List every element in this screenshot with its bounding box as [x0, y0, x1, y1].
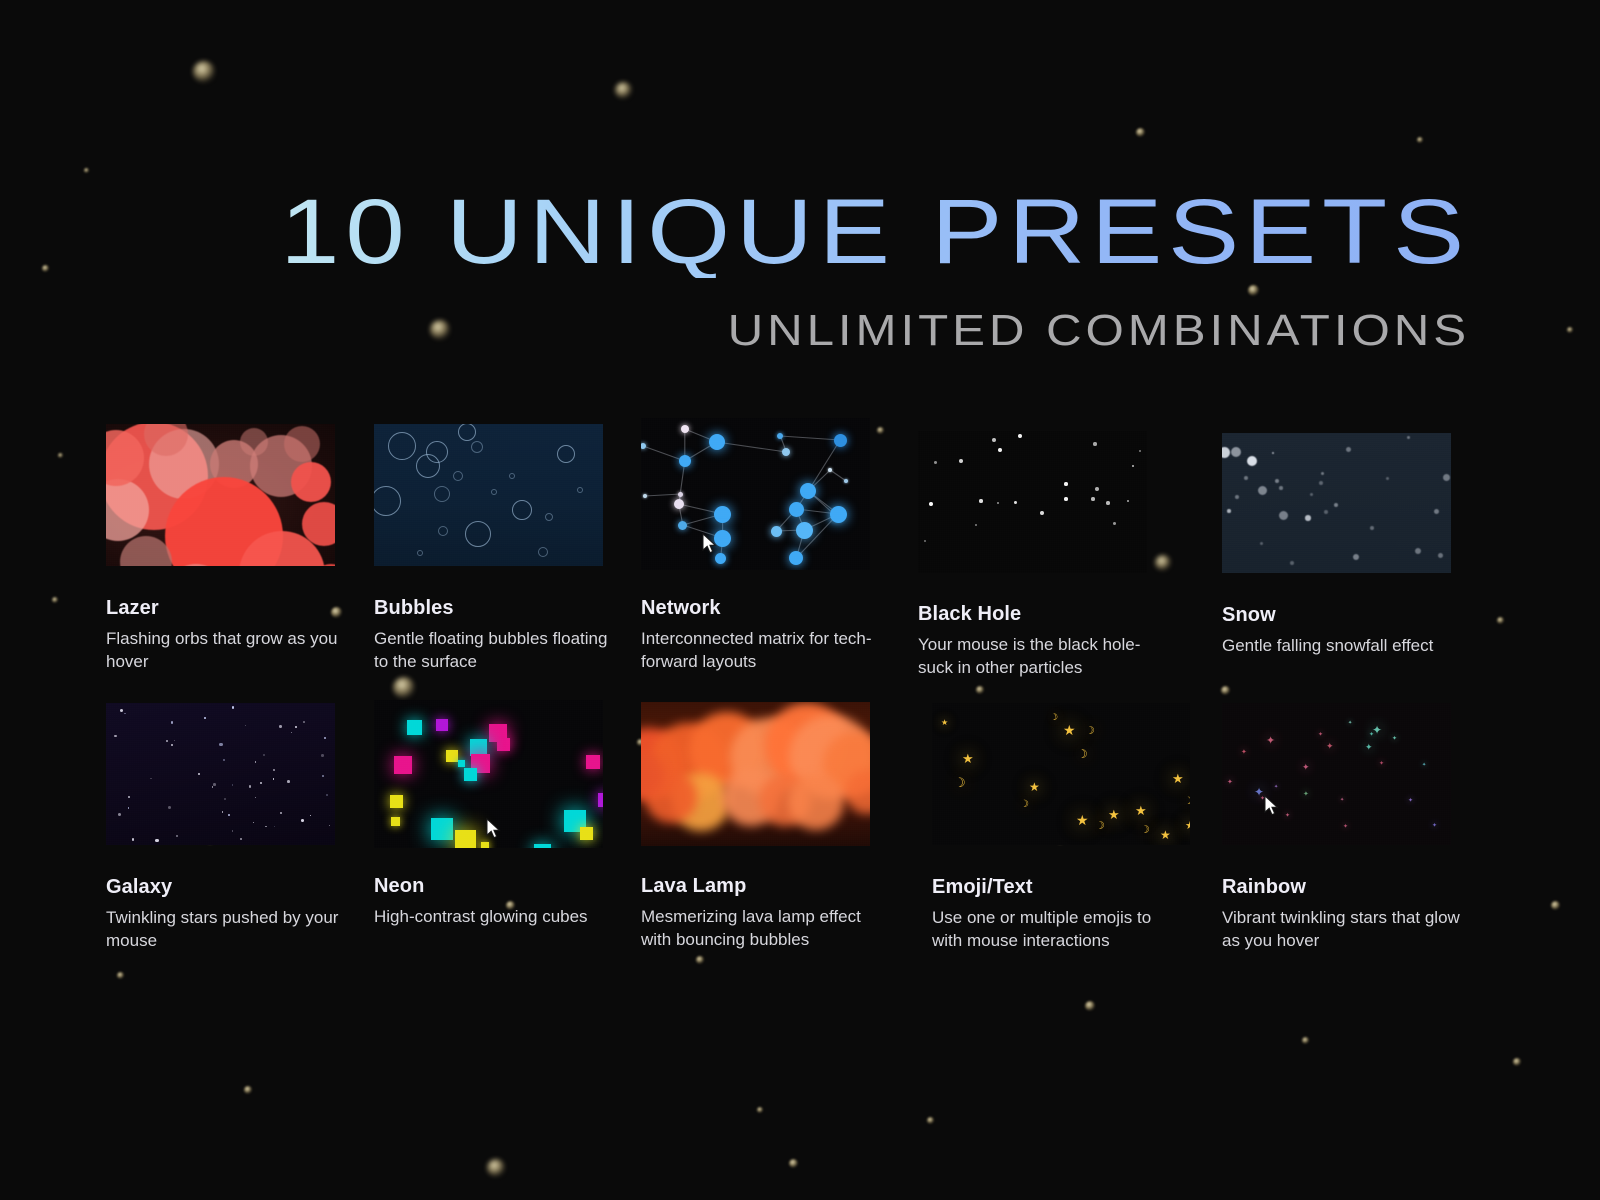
snow-flake [1222, 447, 1230, 458]
snow-flake [1244, 476, 1248, 480]
galaxy-star [329, 825, 330, 826]
snow-flake [1386, 477, 1389, 480]
galaxy-star [310, 815, 311, 816]
emoji-moon-glyph: ☽ [1020, 800, 1029, 810]
snow-flake [1235, 495, 1239, 499]
rainbow-star: ✦ [1266, 736, 1275, 747]
emoji-star-glyph: ★ [962, 752, 974, 765]
preset-description-bubbles: Gentle floating bubbles floating to the … [374, 628, 622, 673]
blackhole-particle [1095, 487, 1099, 491]
galaxy-star [301, 819, 304, 822]
network-node [830, 506, 847, 523]
rainbow-star: ✦ [1303, 791, 1309, 798]
galaxy-star [322, 775, 324, 777]
emoji-star-glyph: ★ [1185, 821, 1190, 832]
neon-cube [598, 793, 603, 807]
galaxy-star [128, 796, 130, 798]
bubble-ring [557, 445, 575, 463]
galaxy-star [198, 773, 200, 775]
galaxy-star [168, 806, 171, 809]
preset-thumbnail-bubbles[interactable] [374, 424, 603, 566]
rainbow-star: ✦ [1274, 785, 1278, 790]
preset-card-emoji-text[interactable]: ★☽★☽☽★☽★★☽★★★☽☽★★☽ Emoji/Text Use one or… [932, 703, 1172, 952]
galaxy-star [228, 814, 230, 816]
preset-description-rainbow: Vibrant twinkling stars that glow as you… [1222, 907, 1468, 952]
network-node [674, 499, 684, 509]
emoji-moon-glyph: ☽ [954, 776, 966, 789]
blackhole-particle [1064, 497, 1068, 501]
neon-cube [407, 720, 422, 735]
neon-cube [391, 817, 400, 826]
snow-flake [1231, 447, 1241, 457]
rainbow-star: ✦ [1422, 763, 1426, 768]
snow-flake [1415, 548, 1421, 554]
blackhole-particle [1139, 450, 1142, 453]
galaxy-star [166, 740, 168, 742]
preset-title-snow: Snow [1222, 604, 1462, 626]
galaxy-star [204, 717, 206, 719]
network-node [796, 522, 813, 539]
preset-description-network: Interconnected matrix for tech-forward l… [641, 628, 877, 673]
snow-flake [1353, 554, 1359, 560]
preset-description-galaxy: Twinkling stars pushed by your mouse [106, 907, 340, 952]
galaxy-star [222, 811, 223, 812]
galaxy-star [287, 780, 290, 783]
network-node [777, 433, 783, 439]
network-node [800, 483, 816, 499]
network-node [828, 468, 832, 472]
preset-description-snow: Gentle falling snowfall effect [1222, 635, 1472, 658]
emoji-moon-glyph: ☽ [1050, 713, 1058, 722]
bubble-ring [509, 473, 515, 479]
rainbow-star: ✦ [1432, 823, 1437, 829]
galaxy-star [295, 726, 297, 728]
lazer-orb [240, 428, 268, 456]
preset-title-network: Network [641, 597, 881, 619]
emoji-star-glyph: ★ [1076, 813, 1089, 827]
preset-title-lazer: Lazer [106, 597, 346, 619]
emoji-moon-glyph: ☽ [1077, 748, 1088, 760]
preset-card-lava-lamp[interactable]: Lava Lamp Mesmerizing lava lamp effect w… [641, 702, 881, 951]
neon-cube [534, 844, 551, 848]
rainbow-star: ✦ [1369, 732, 1374, 738]
preset-description-lazer: Flashing orbs that grow as you hover [106, 628, 338, 673]
blackhole-particle [992, 438, 996, 442]
blackhole-particle [1091, 497, 1095, 501]
rainbow-star: ✦ [1326, 742, 1334, 751]
galaxy-star [124, 713, 126, 715]
bubble-ring [453, 471, 463, 481]
preset-thumbnail-neon[interactable] [374, 700, 603, 848]
network-node [678, 492, 683, 497]
emoji-star-glyph: ★ [941, 719, 948, 727]
snow-flake [1279, 486, 1283, 490]
network-node [678, 521, 687, 530]
bubble-ring [417, 550, 423, 556]
rainbow-star: ✦ [1392, 736, 1397, 742]
preset-title-black-hole: Black Hole [918, 603, 1158, 625]
blackhole-particle [959, 459, 964, 464]
blackhole-particle [934, 461, 937, 464]
preset-grid: Lazer Flashing orbs that grow as you hov… [0, 0, 1600, 1200]
lazer-orb [284, 426, 320, 462]
snow-flake [1370, 526, 1374, 530]
neon-cube [431, 818, 453, 840]
galaxy-star [274, 826, 275, 827]
blackhole-particle [1113, 522, 1116, 525]
galaxy-star [219, 743, 222, 746]
galaxy-star [240, 838, 242, 840]
galaxy-star [280, 812, 282, 814]
galaxy-star [224, 798, 226, 800]
network-node [679, 455, 691, 467]
galaxy-star [303, 721, 305, 723]
galaxy-star [213, 783, 216, 786]
preset-title-bubbles: Bubbles [374, 597, 614, 619]
snow-flake [1407, 436, 1410, 439]
galaxy-star [212, 786, 213, 787]
galaxy-star [232, 784, 233, 785]
neon-cube [446, 750, 458, 762]
bubble-ring [465, 521, 491, 547]
blackhole-particle [924, 540, 926, 542]
emoji-moon-glyph: ☽ [1095, 821, 1105, 832]
neon-cube [436, 719, 448, 731]
blackhole-particle [1132, 465, 1135, 468]
snow-flake [1324, 510, 1328, 514]
snow-flake [1434, 509, 1439, 514]
snow-flake [1279, 511, 1288, 520]
preset-card-black-hole[interactable]: Black Hole Your mouse is the black hole-… [918, 431, 1158, 679]
rainbow-star: ✦ [1408, 798, 1413, 804]
neon-cube [455, 830, 476, 848]
rainbow-star: ✦ [1340, 798, 1344, 803]
blackhole-particle [1018, 434, 1023, 439]
galaxy-star [273, 778, 275, 780]
galaxy-star [249, 785, 251, 787]
bubble-ring [438, 526, 448, 536]
neon-cube [481, 842, 489, 848]
network-node [709, 434, 725, 450]
preset-description-neon: High-contrast glowing cubes [374, 906, 610, 929]
blackhole-particle [979, 499, 983, 503]
preset-thumbnail-rainbow[interactable]: ✦✦✦✦✦✦✦✦✦✦✦✦✦✦✦✦✦✦✦✦✦✦ [1222, 703, 1451, 845]
galaxy-star [260, 782, 262, 784]
lava-blob [788, 774, 844, 830]
bubble-ring [458, 424, 476, 441]
galaxy-star [232, 706, 234, 708]
rainbow-star: ✦ [1241, 749, 1247, 756]
network-node [789, 502, 804, 517]
galaxy-star [253, 822, 254, 823]
preset-card-galaxy[interactable]: Galaxy Twinkling stars pushed by your mo… [106, 703, 346, 952]
emoji-moon-glyph: ☽ [1085, 726, 1095, 737]
rainbow-star: ✦ [1285, 813, 1290, 819]
rainbow-star: ✦ [1379, 761, 1384, 767]
rainbow-star: ✦ [1318, 732, 1323, 738]
network-node [641, 443, 646, 449]
emoji-star-glyph: ★ [1108, 808, 1120, 821]
galaxy-star [132, 838, 135, 841]
preset-thumbnail-lazer[interactable] [106, 424, 335, 566]
bubble-ring [491, 489, 497, 495]
galaxy-star [171, 721, 173, 723]
snow-flake [1443, 474, 1450, 481]
galaxy-star [155, 839, 158, 842]
neon-cube [586, 755, 600, 769]
blackhole-particle [998, 448, 1002, 452]
blackhole-particle [975, 524, 977, 526]
network-node [782, 448, 790, 456]
galaxy-star [176, 835, 177, 836]
emoji-moon-glyph: ☽ [1184, 797, 1190, 807]
snow-flake [1346, 447, 1351, 452]
snow-flake [1258, 486, 1267, 495]
network-node [714, 506, 731, 523]
emoji-moon-glyph: ☽ [1140, 825, 1150, 836]
blackhole-particle [1014, 501, 1017, 504]
preset-card-snow[interactable]: Snow Gentle falling snowfall effect [1222, 433, 1462, 658]
emoji-star-glyph: ★ [1135, 804, 1147, 817]
snow-flake [1305, 515, 1311, 521]
bubble-ring [374, 486, 401, 516]
galaxy-star [279, 725, 282, 728]
preset-title-lava-lamp: Lava Lamp [641, 875, 881, 897]
snow-flake [1247, 456, 1257, 466]
galaxy-star [265, 826, 267, 828]
preset-thumbnail-black-hole[interactable] [918, 431, 1147, 573]
preset-description-lava-lamp: Mesmerizing lava lamp effect with bounci… [641, 906, 895, 951]
snow-flake [1275, 479, 1280, 484]
preset-title-neon: Neon [374, 875, 614, 897]
snow-flake [1319, 481, 1323, 485]
galaxy-star [150, 778, 151, 779]
galaxy-star [118, 813, 121, 816]
neon-cube [394, 756, 412, 774]
preset-card-neon[interactable]: Neon High-contrast glowing cubes [374, 700, 614, 929]
snow-flake [1334, 503, 1338, 507]
galaxy-star [255, 761, 257, 763]
network-node [771, 526, 782, 537]
emoji-star-glyph: ★ [1063, 723, 1076, 737]
lazer-orb [291, 462, 331, 502]
snow-flake [1310, 493, 1313, 496]
bubble-ring [545, 513, 553, 521]
network-node [681, 425, 689, 433]
snow-flake [1227, 509, 1231, 513]
bubble-ring [388, 432, 416, 460]
preset-description-black-hole: Your mouse is the black hole-suck in oth… [918, 634, 1172, 679]
preset-card-lazer[interactable]: Lazer Flashing orbs that grow as you hov… [106, 424, 346, 673]
preset-thumbnail-emoji-text[interactable]: ★☽★☽☽★☽★★☽★★★☽☽★★☽ [932, 703, 1190, 845]
blackhole-particle [1040, 511, 1044, 515]
galaxy-star [263, 754, 265, 756]
presets-showcase-page: 10 UNIQUE PRESETS UNLIMITED COMBINATIONS… [0, 0, 1600, 1200]
galaxy-star [171, 744, 173, 746]
preset-card-network[interactable]: Network Interconnected matrix for tech-f… [641, 418, 881, 673]
neon-cube [458, 760, 465, 767]
preset-title-emoji-text: Emoji/Text [932, 876, 1172, 898]
bubble-ring [577, 487, 583, 493]
bubble-ring [416, 454, 440, 478]
galaxy-star [128, 807, 130, 809]
blackhole-particle [1064, 482, 1068, 486]
preset-thumbnail-galaxy[interactable] [106, 703, 335, 845]
galaxy-star [114, 735, 116, 737]
bubble-ring [434, 486, 450, 502]
neon-cube [497, 738, 510, 751]
galaxy-star [120, 709, 123, 712]
preset-title-rainbow: Rainbow [1222, 876, 1462, 898]
emoji-star-glyph: ★ [1029, 781, 1040, 793]
emoji-star-glyph: ★ [1160, 829, 1171, 841]
blackhole-particle [997, 502, 999, 504]
bubble-ring [512, 500, 532, 520]
preset-card-rainbow[interactable]: ✦✦✦✦✦✦✦✦✦✦✦✦✦✦✦✦✦✦✦✦✦✦ Rainbow Vibrant t… [1222, 703, 1462, 952]
galaxy-star [321, 754, 324, 757]
galaxy-star [324, 737, 326, 739]
neon-cube [390, 795, 403, 808]
rainbow-star: ✦ [1348, 721, 1352, 726]
snow-flake [1290, 561, 1294, 565]
neon-cube [580, 827, 593, 840]
snow-flake [1321, 472, 1324, 475]
network-node [715, 553, 726, 564]
neon-cube [464, 768, 477, 781]
galaxy-star [291, 732, 292, 733]
preset-card-bubbles[interactable]: Bubbles Gentle floating bubbles floating… [374, 424, 614, 673]
blackhole-particle [1127, 500, 1130, 503]
rainbow-star: ✦ [1260, 796, 1265, 802]
network-node [789, 551, 803, 565]
blackhole-particle [1106, 501, 1110, 505]
network-node [844, 479, 848, 483]
rainbow-star: ✦ [1365, 743, 1373, 752]
preset-thumbnail-snow[interactable] [1222, 433, 1451, 573]
bubble-ring [471, 441, 483, 453]
network-node [714, 530, 731, 547]
rainbow-star: ✦ [1343, 824, 1348, 830]
blackhole-particle [1093, 442, 1097, 446]
snow-flake [1272, 452, 1275, 455]
rainbow-star: ✦ [1227, 779, 1233, 786]
galaxy-star [255, 797, 256, 798]
rainbow-star: ✦ [1302, 763, 1310, 772]
galaxy-star [232, 830, 234, 832]
snow-flake [1438, 553, 1443, 558]
galaxy-star [245, 725, 246, 726]
preset-thumbnail-lava-lamp[interactable] [641, 702, 870, 846]
galaxy-star [223, 759, 225, 761]
bubble-ring [538, 547, 548, 557]
galaxy-star [326, 794, 328, 796]
network-node [834, 434, 847, 447]
blackhole-particle [929, 502, 934, 507]
network-node [643, 494, 647, 498]
preset-description-emoji-text: Use one or multiple emojis to with mouse… [932, 907, 1156, 952]
galaxy-star [273, 769, 276, 772]
snow-flake [1260, 542, 1263, 545]
emoji-star-glyph: ★ [1172, 772, 1184, 785]
galaxy-star [174, 740, 176, 742]
preset-thumbnail-network[interactable] [641, 418, 870, 570]
preset-title-galaxy: Galaxy [106, 876, 346, 898]
